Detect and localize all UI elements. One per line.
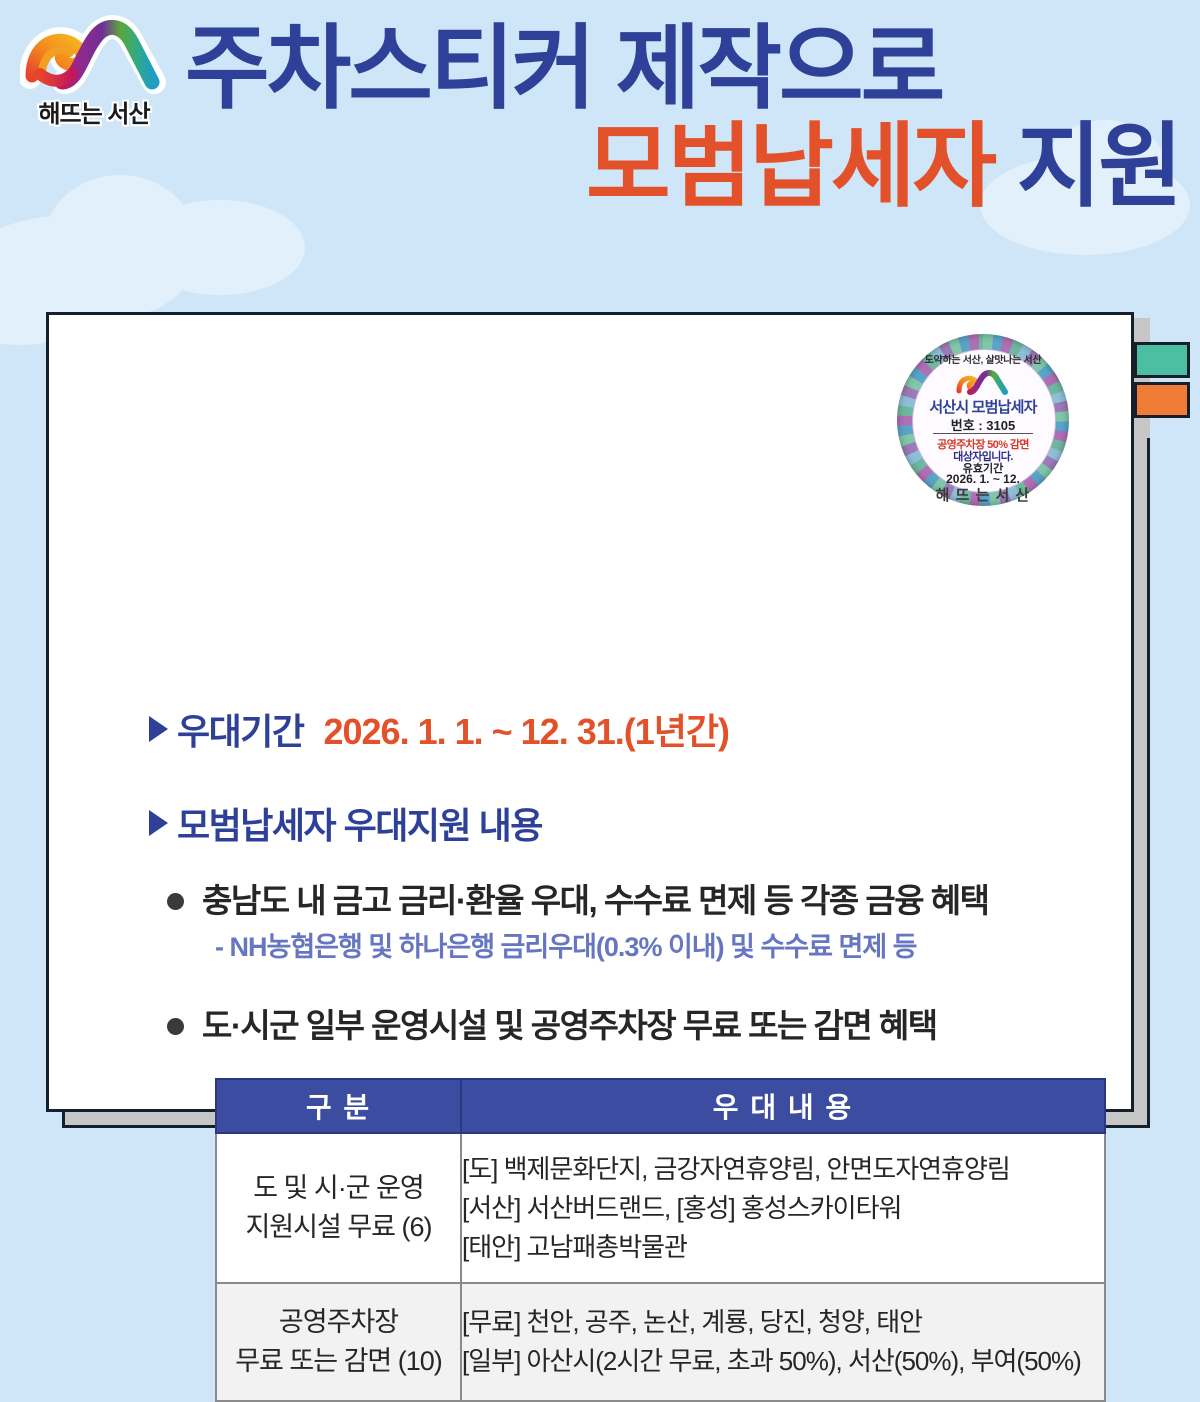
headline-rest: 지원: [994, 116, 1180, 218]
table-cell-category-line: 무료 또는 감면 (10): [217, 1342, 460, 1381]
benefits-section-heading: 모범납세자 우대지원 내용: [149, 797, 542, 849]
benefit-bullet-1-subnote: - NH농협은행 및 하나은행 금리우대(0.3% 이내) 및 수수료 면제 등: [215, 925, 917, 964]
table-header-row: 구 분 우 대 내 용: [216, 1079, 1105, 1133]
brand-slogan: 해뜨는 서산: [14, 94, 174, 129]
table-header-category: 구 분: [216, 1079, 461, 1133]
triangle-right-icon: [149, 810, 168, 836]
table-detail-line: [도] 백제문화단지, 금강자연휴양림, 안면도자연휴양림: [462, 1150, 1104, 1189]
period-value: 2026. 1. 1. ~ 12. 31.(1년간): [323, 703, 729, 755]
sticker-logo-icon: [955, 370, 1011, 396]
brand-logo-block: 해뜨는 서산: [14, 12, 174, 137]
benefits-label: 모범납세자 우대지원 내용: [177, 797, 542, 849]
table-cell-category-line: 지원시설 무료 (6): [217, 1208, 460, 1247]
table-row: 도 및 시·군 운영 지원시설 무료 (6) [도] 백제문화단지, 금강자연휴…: [216, 1133, 1105, 1283]
table-detail-line: [일부] 아산시(2시간 무료, 초과 50%), 서산(50%), 부여(50…: [462, 1342, 1104, 1381]
period-label: 우대기간: [177, 703, 303, 755]
page-headline: 주차스티커 제작으로 모범납세자 지원: [185, 24, 1180, 212]
table-cell-category: 공영주차장 무료 또는 감면 (10): [216, 1283, 461, 1401]
triangle-right-icon: [149, 716, 168, 742]
headline-line-1: 주차스티커 제작으로: [185, 24, 1180, 114]
benefit-table: 구 분 우 대 내 용 도 및 시·군 운영 지원시설 무료 (6) [도] 백…: [215, 1078, 1106, 1402]
headline-line-2: 모범납세자 지원: [185, 122, 1180, 212]
table-cell-category-line: 도 및 시·군 운영: [217, 1169, 460, 1208]
bullet-dot-icon: [167, 893, 184, 910]
table-header-detail: 우 대 내 용: [461, 1079, 1105, 1133]
sticker-arc-bottom-text: 해 뜨 는 서 산: [897, 484, 1069, 505]
table-cell-category-line: 공영주차장: [217, 1303, 460, 1342]
sticker-number: 번호 : 3105: [897, 415, 1069, 434]
sticker-divider: [933, 433, 1033, 434]
benefit-bullet-2-text: 도·시군 일부 운영시설 및 공영주차장 무료 또는 감면 혜택: [202, 1005, 937, 1048]
table-detail-line: [태안] 고남패총박물관: [462, 1228, 1104, 1267]
teal-tab[interactable]: [1134, 342, 1190, 378]
table-cell-category: 도 및 시·군 운영 지원시설 무료 (6): [216, 1133, 461, 1283]
period-section-heading: 우대기간 2026. 1. 1. ~ 12. 31.(1년간): [149, 703, 729, 755]
table-cell-detail: [무료] 천안, 공주, 논산, 계룡, 당진, 청양, 태안 [일부] 아산시…: [461, 1283, 1105, 1401]
sticker-arc-top-text: 도약하는 서산, 살맛나는 서산: [897, 351, 1069, 365]
exemplary-taxpayer-sticker: 도약하는 서산, 살맛나는 서산 서산시 모범납세자 번호 : 3105 공영주…: [897, 334, 1069, 506]
benefit-bullet-1: 충남도 내 금고 금리·환율 우대, 수수료 면제 등 각종 금융 혜택: [167, 880, 988, 923]
orange-tab[interactable]: [1134, 382, 1190, 418]
table-detail-line: [서산] 서산버드랜드, [홍성] 홍성스카이타워: [462, 1189, 1104, 1228]
sticker-title: 서산시 모범납세자: [897, 396, 1069, 417]
table-cell-detail: [도] 백제문화단지, 금강자연휴양림, 안면도자연휴양림 [서산] 서산버드랜…: [461, 1133, 1105, 1283]
bullet-dot-icon: [167, 1018, 184, 1035]
benefit-bullet-2: 도·시군 일부 운영시설 및 공영주차장 무료 또는 감면 혜택: [167, 1005, 937, 1048]
table-row: 공영주차장 무료 또는 감면 (10) [무료] 천안, 공주, 논산, 계룡,…: [216, 1283, 1105, 1401]
headline-highlight: 모범납세자: [586, 116, 994, 218]
benefit-bullet-1-text: 충남도 내 금고 금리·환율 우대, 수수료 면제 등 각종 금융 혜택: [202, 880, 988, 923]
table-detail-line: [무료] 천안, 공주, 논산, 계룡, 당진, 청양, 태안: [462, 1303, 1104, 1342]
seosan-sun-arch-logo-icon: [20, 12, 170, 97]
